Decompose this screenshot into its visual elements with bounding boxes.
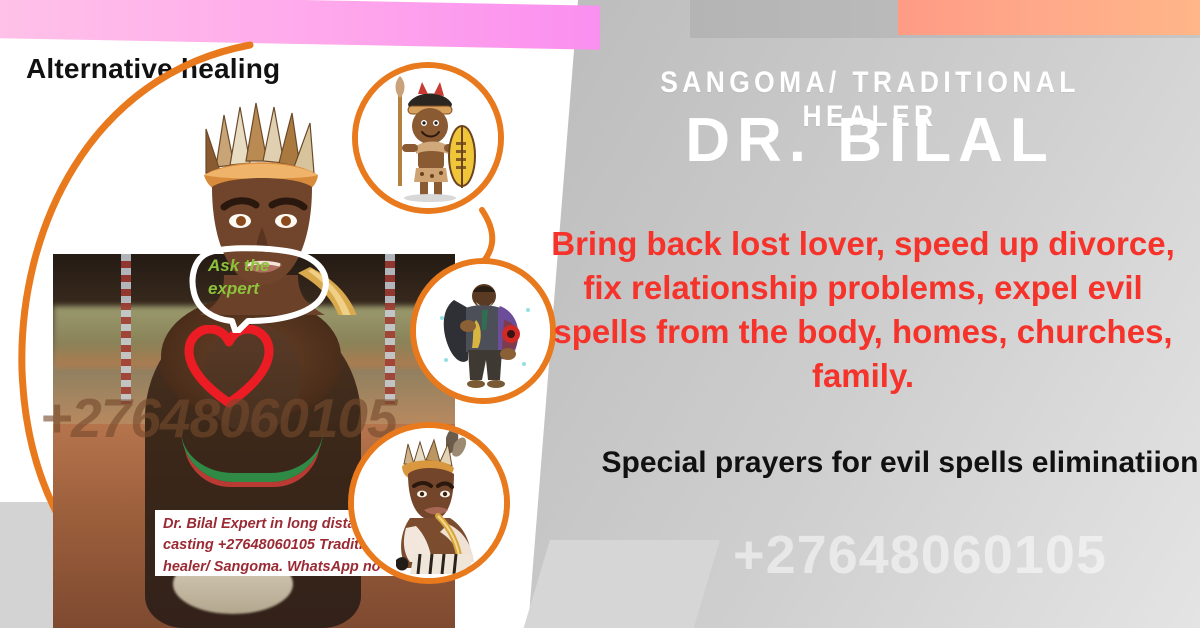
photo-bead-strap-right	[385, 254, 395, 404]
poster-canvas: Alternative healing +27648060105 Dr. Bil…	[0, 0, 1200, 628]
services-description: Bring back lost lover, speed up divorce,…	[538, 222, 1188, 398]
special-prayers-text: Special prayers for evil spells eliminat…	[600, 443, 1200, 484]
speech-bubble-text: Ask the expert	[208, 255, 304, 301]
phone-number-watermark: +27648060105	[640, 524, 1200, 586]
orange-gradient-band	[898, 0, 1200, 35]
headline-title: DR. BILAL	[560, 108, 1180, 173]
badge-zulu-warrior	[352, 62, 504, 214]
badge-kneeling-sangoma	[348, 422, 510, 584]
badge-robed-healer	[410, 258, 556, 404]
